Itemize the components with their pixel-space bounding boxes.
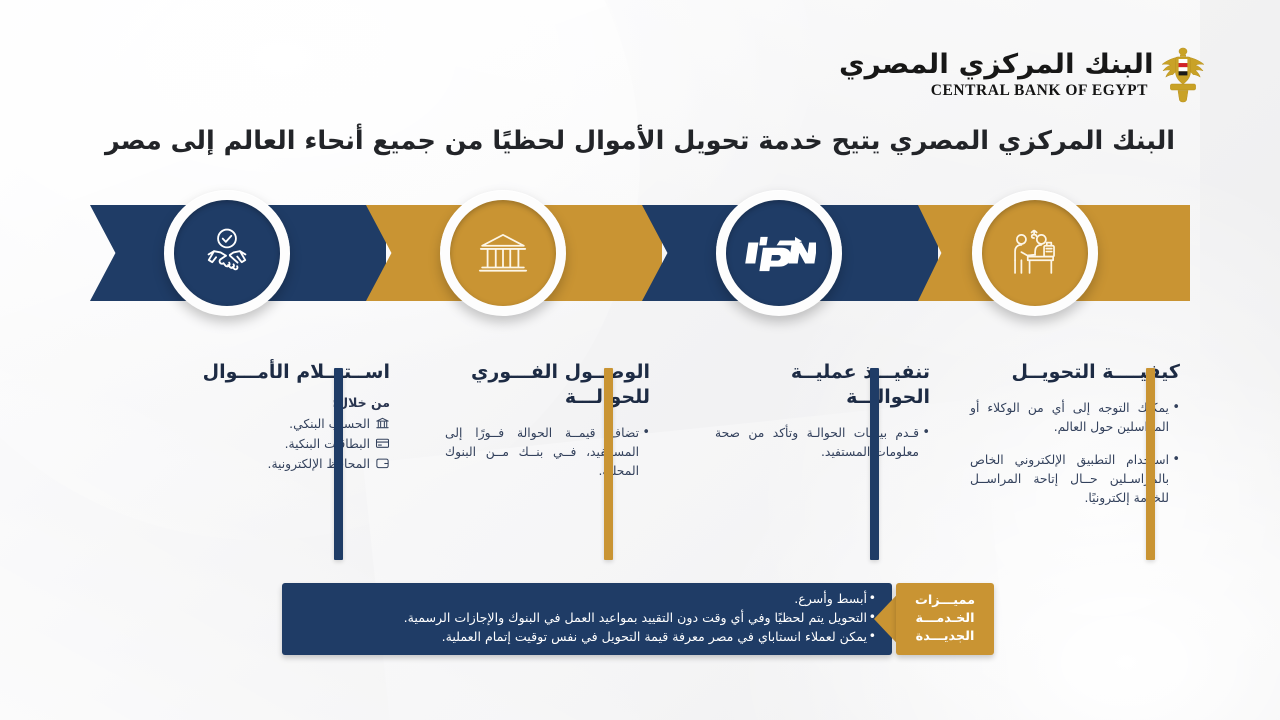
- eagle-of-saladin-emblem-icon: [1158, 44, 1208, 106]
- teller-counter-icon: [1006, 224, 1064, 282]
- features-banner: أبسط وأسرع. التحويل يتم لحظيًا وفي أي وق…: [282, 583, 994, 655]
- features-bullet-list: أبسط وأسرع. التحويل يتم لحظيًا وفي أي وق…: [294, 590, 876, 647]
- features-banner-tab: مميـــزات الخـدمـــة الجديـــدة: [896, 583, 994, 655]
- column-subtitle: من خلال:: [190, 395, 390, 410]
- channel-item: المحافظ الإلكترونية.: [190, 455, 390, 474]
- ipn-logo-icon: [742, 232, 816, 274]
- bullet-item: قـدم بيانـات الحوالـة وتأكد من صحة معلوم…: [715, 424, 930, 462]
- tab-line: الجديـــدة: [916, 628, 975, 646]
- step-text-columns: اســتـــلام الأمـــوال من خلال: الحساب ا…: [90, 360, 1190, 570]
- feature-item: التحويل يتم لحظيًا وفي أي وقت دون التقيي…: [294, 609, 876, 628]
- column-divider-gold: [604, 368, 613, 560]
- bullet-list: قـدم بيانـات الحوالـة وتأكد من صحة معلوم…: [715, 424, 930, 462]
- column-title: الوصــول الفـــوري للحوالـــة: [445, 360, 650, 410]
- tab-line: مميـــزات: [915, 592, 975, 610]
- bullet-item: تضاف قيمــة الحوالة فــورًا إلى المسـتفي…: [445, 424, 650, 481]
- column-title: اســتـــلام الأمـــوال: [190, 360, 390, 385]
- bank-building-icon: [474, 224, 532, 282]
- card-icon: [375, 436, 390, 450]
- column-execute-transfer: تنفيـــذ عمليــة الحوالـــة قـدم بيانـات…: [715, 360, 930, 465]
- bank-icon: [375, 416, 390, 430]
- logo-english-wordmark: CENTRAL BANK OF EGYPT: [931, 83, 1148, 99]
- wallet-icon: [375, 456, 390, 470]
- step-icon-badge-execute-transfer[interactable]: [716, 190, 842, 316]
- column-instant-arrival: الوصــول الفـــوري للحوالـــة تضاف قيمــ…: [445, 360, 650, 484]
- channel-item: الحساب البنكي.: [190, 415, 390, 434]
- column-divider-gold: [1146, 368, 1155, 560]
- column-divider-navy: [870, 368, 879, 560]
- central-bank-of-egypt-logo: البنك المركزي المصري CENTRAL BANK OF EGY…: [845, 44, 1208, 106]
- step-icon-badge-instant-arrival[interactable]: [440, 190, 566, 316]
- step-icon-badge-how-to-transfer[interactable]: [972, 190, 1098, 316]
- channel-list: الحساب البنكي. البطاقات البنكية.: [190, 415, 390, 474]
- logo-arabic-wordmark: البنك المركزي المصري: [839, 51, 1154, 78]
- handshake-check-icon: [196, 222, 258, 284]
- channel-label: البطاقات البنكية.: [285, 437, 370, 451]
- feature-item: يمكن لعملاء انستاباي في مصر معرفة قيمة ا…: [294, 628, 876, 647]
- column-title: تنفيـــذ عمليــة الحوالـــة: [715, 360, 930, 410]
- page-headline: البنك المركزي المصري يتيح خدمة تحويل الأ…: [0, 126, 1280, 156]
- column-divider-navy: [334, 368, 343, 560]
- feature-item: أبسط وأسرع.: [294, 590, 876, 609]
- channel-label: الحساب البنكي.: [289, 417, 370, 431]
- bullet-list: تضاف قيمــة الحوالة فــورًا إلى المسـتفي…: [445, 424, 650, 481]
- step-icon-badge-receive-funds[interactable]: [164, 190, 290, 316]
- channel-item: البطاقات البنكية.: [190, 435, 390, 454]
- tab-line: الخـدمـــة: [916, 610, 975, 628]
- channel-label: المحافظ الإلكترونية.: [268, 457, 370, 471]
- column-receive-funds: اســتـــلام الأمـــوال من خلال: الحساب ا…: [190, 360, 390, 475]
- infographic-canvas: البنك المركزي المصري CENTRAL BANK OF EGY…: [0, 0, 1280, 720]
